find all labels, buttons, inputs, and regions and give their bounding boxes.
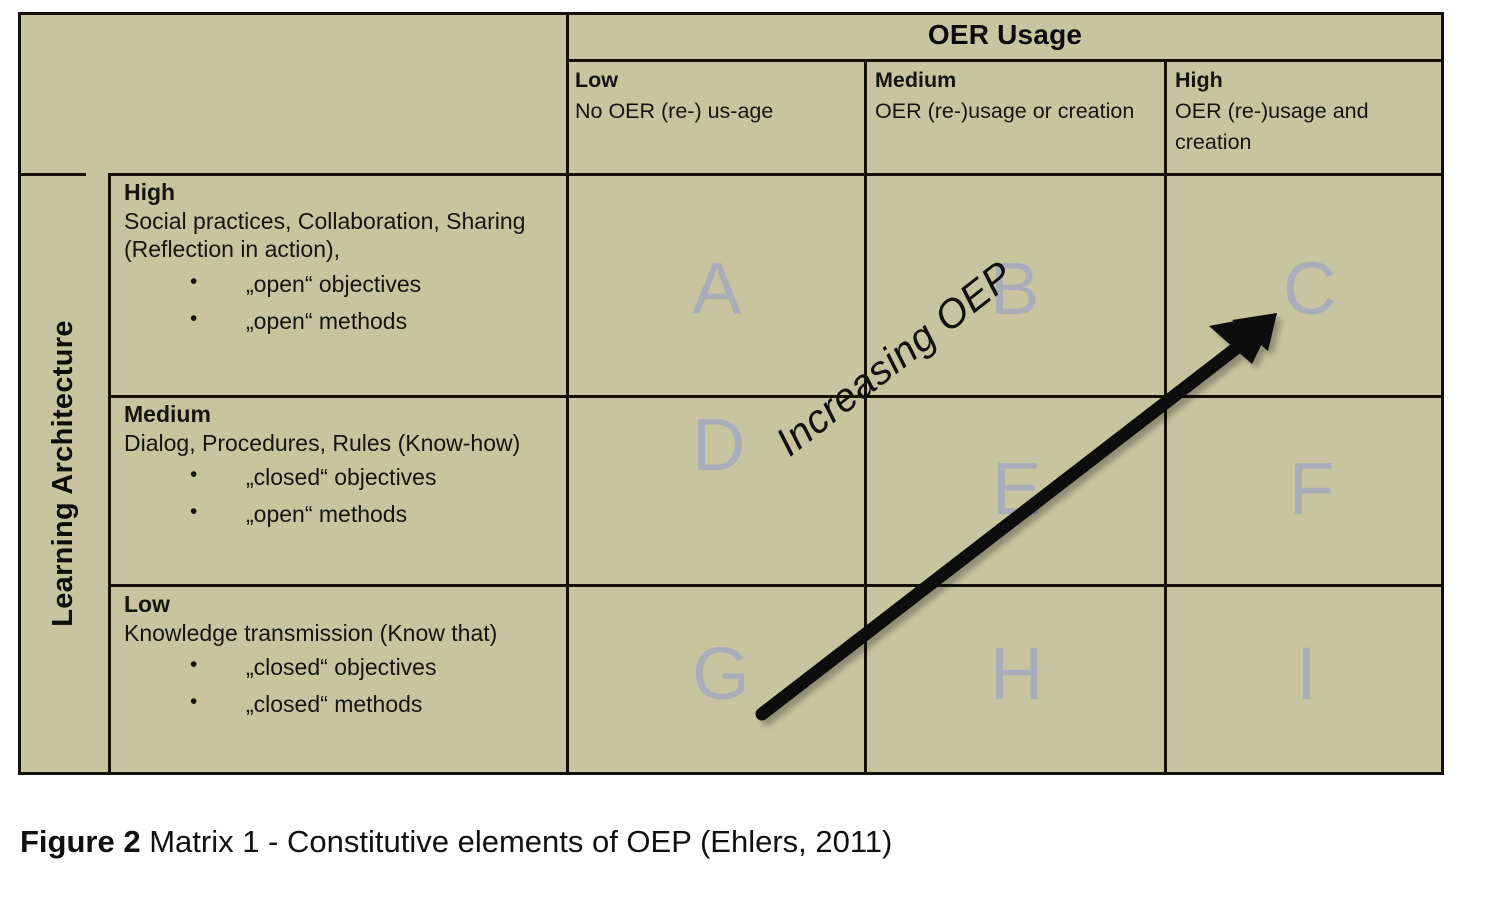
column-header-high-level: High (1175, 65, 1435, 96)
column-header-high: High OER (re-)usage and creation (1166, 62, 1444, 172)
column-group-title: OER Usage (566, 12, 1444, 58)
column-header-low-description: No OER (re-) us-age (575, 96, 855, 127)
column-header-low: Low No OER (re-) us-age (566, 62, 864, 172)
figure-caption-label: Figure 2 (20, 824, 141, 859)
figure-caption-text: Matrix 1 - Constitutive elements of OEP … (141, 824, 893, 859)
column-header-medium: Medium OER (re-)usage or creation (866, 62, 1164, 172)
matrix-cell-f: F (1289, 452, 1334, 526)
figure-root: OER Usage Low No OER (re-) us-age Medium… (0, 0, 1488, 904)
row-low-bullets: „closed“ objectives „closed“ methods (124, 649, 554, 724)
matrix-cell-a: A (692, 252, 741, 326)
list-item: „open“ objectives (190, 266, 554, 303)
row-high-level: High (124, 178, 554, 207)
row-low-body: Knowledge transmission (Know that) (124, 619, 554, 648)
row-medium-body: Dialog, Procedures, Rules (Know-how) (124, 429, 554, 458)
column-header-high-description: OER (re-)usage and creation (1175, 96, 1435, 158)
column-header-medium-description: OER (re-)usage or creation (875, 96, 1155, 127)
list-item: „open“ methods (190, 303, 554, 340)
row-axis-title: Learning Architecture (21, 175, 105, 772)
row-medium-level: Medium (124, 400, 554, 429)
column-header-low-level: Low (575, 65, 855, 96)
row-medium-bullets: „closed“ objectives „open“ methods (124, 459, 554, 534)
row-high-body: Social practices, Collaboration, Sharing… (124, 207, 554, 264)
matrix-cell-i: I (1296, 637, 1317, 711)
list-item: „open“ methods (190, 496, 554, 533)
row-description-medium: Medium Dialog, Procedures, Rules (Know-h… (110, 398, 562, 534)
grid-line-row2-bottom (108, 584, 1444, 587)
matrix-cell-e: E (992, 452, 1041, 526)
row-axis-title-label: Learning Architecture (47, 320, 80, 627)
matrix-cell-g: G (692, 637, 750, 711)
matrix-cell-h: H (990, 637, 1043, 711)
column-header-medium-level: Medium (875, 65, 1155, 96)
list-item: „closed“ methods (190, 686, 554, 723)
matrix-cell-c: C (1283, 252, 1336, 326)
row-high-bullets: „open“ objectives „open“ methods (124, 266, 554, 341)
row-description-high: High Social practices, Collaboration, Sh… (110, 176, 562, 340)
list-item: „closed“ objectives (190, 459, 554, 496)
row-low-level: Low (124, 590, 554, 619)
list-item: „closed“ objectives (190, 649, 554, 686)
matrix-cell-d: D (692, 408, 745, 482)
row-description-low: Low Knowledge transmission (Know that) „… (110, 588, 562, 724)
figure-caption: Figure 2 Matrix 1 - Constitutive element… (20, 824, 892, 860)
